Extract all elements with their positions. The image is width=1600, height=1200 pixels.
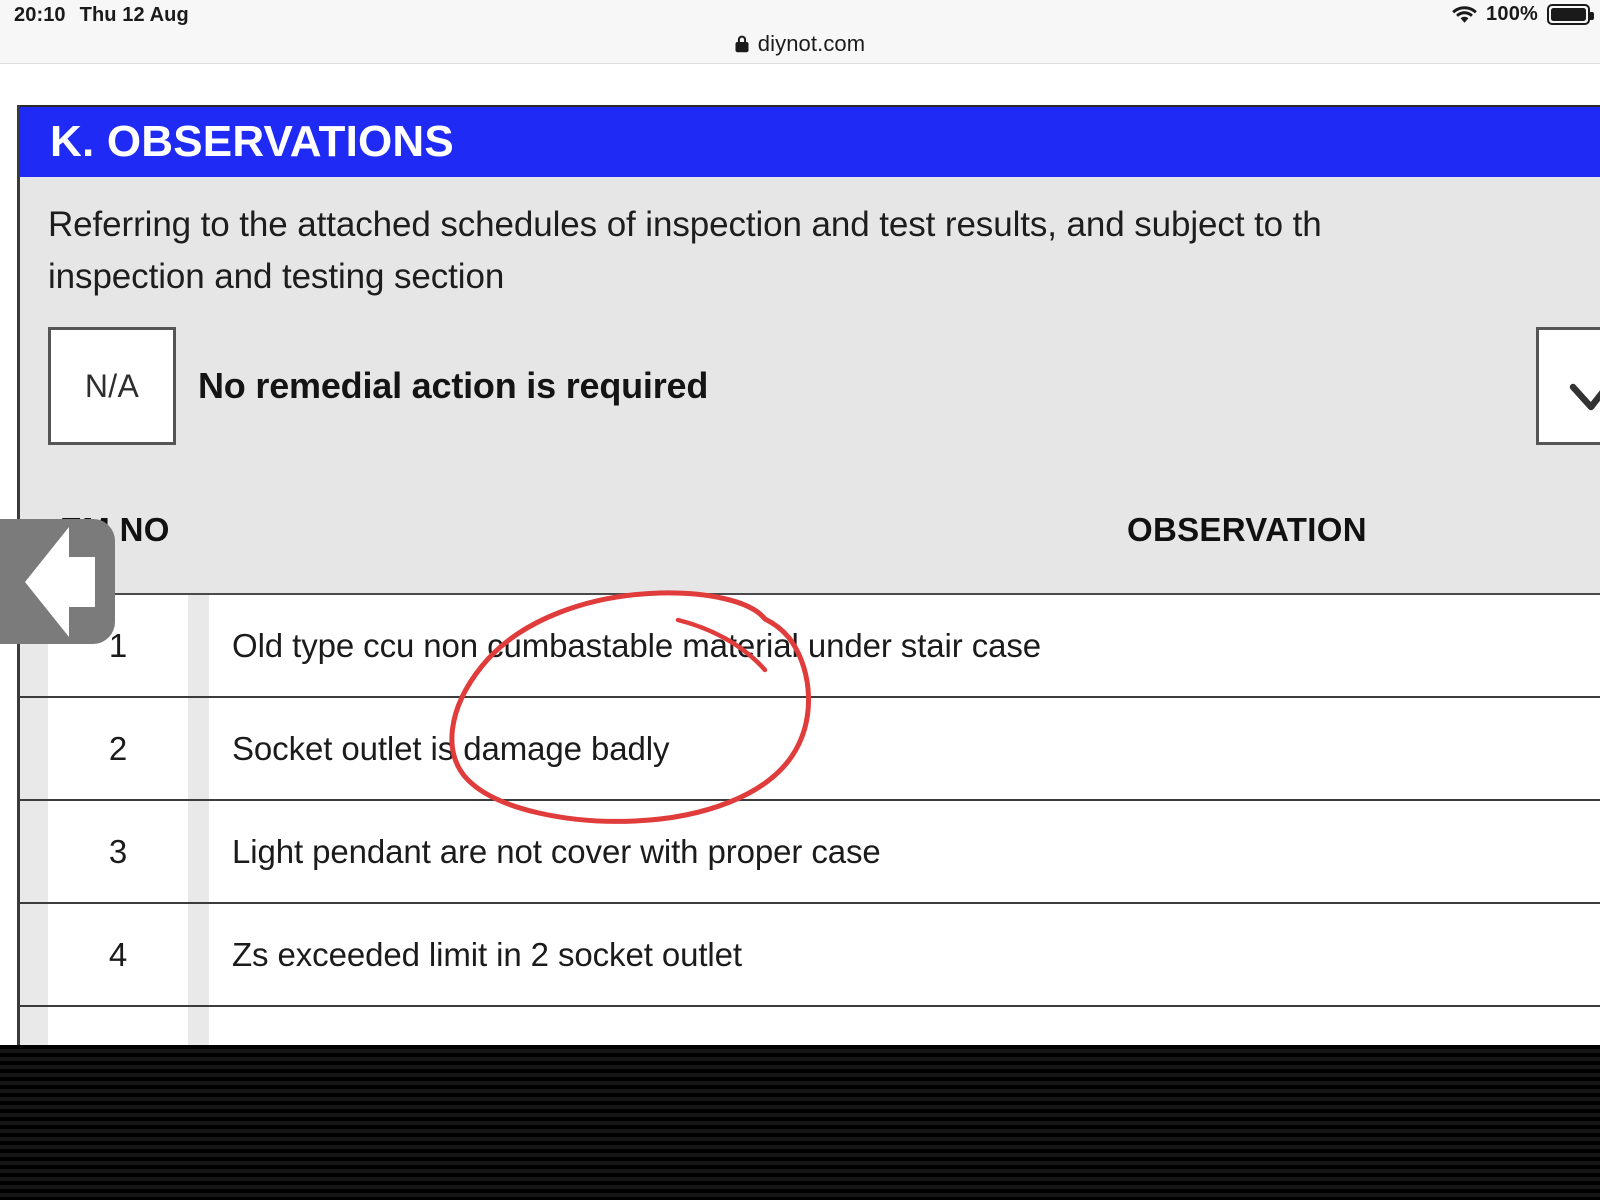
table-row[interactable]: 4 Zs exceeded limit in 2 socket outlet — [20, 904, 1600, 1007]
intro-text: Referring to the attached schedules of i… — [20, 199, 1600, 303]
cell-item-no: 4 — [48, 936, 188, 974]
checkbox-na-label: N/A — [85, 368, 139, 405]
cell-observation: Old type ccu non cumbastable material un… — [232, 627, 1041, 665]
status-bar-right: 100% — [1452, 3, 1590, 26]
section-header: K. OBSERVATIONS — [20, 105, 1600, 177]
battery-full-icon — [1547, 4, 1590, 25]
cell-item-no: 3 — [48, 833, 188, 871]
table-row[interactable]: 1 Old type ccu non cumbastable material … — [20, 595, 1600, 698]
screen: 20:10 Thu 12 Aug 100% diynot.com — [0, 0, 1600, 1200]
cell-observation: Light pendant are not cover with proper … — [232, 833, 881, 871]
status-bar: 20:10 Thu 12 Aug 100% — [0, 0, 1600, 32]
eicr-document: K. OBSERVATIONS Referring to the attache… — [17, 105, 1600, 1045]
back-arrow-icon — [21, 521, 103, 643]
page-title: K. OBSERVATIONS — [50, 117, 454, 167]
lock-icon — [735, 35, 749, 53]
page-content: K. OBSERVATIONS Referring to the attache… — [0, 64, 1600, 1045]
url-bar-divider — [0, 63, 1600, 64]
battery-percent: 100% — [1486, 3, 1538, 26]
table-row[interactable]: 3 Light pendant are not cover with prope… — [20, 801, 1600, 904]
choice-no-remedial-action[interactable]: N/A No remedial action is required — [48, 327, 708, 445]
status-date: Thu 12 Aug — [80, 4, 189, 27]
table-row[interactable]: 2 Socket outlet is damage badly — [20, 698, 1600, 801]
remedial-choice-row: N/A No remedial action is required — [20, 303, 1600, 477]
back-gesture-overlay[interactable] — [0, 519, 115, 644]
cell-observation: Zs exceeded limit in 2 socket outlet — [232, 936, 742, 974]
choice-label-no-remedial-action: No remedial action is required — [198, 365, 708, 407]
wifi-icon — [1452, 5, 1477, 24]
checkbox-na[interactable]: N/A — [48, 327, 176, 445]
column-header-observation: OBSERVATION — [1127, 511, 1367, 549]
battery-fill — [1551, 8, 1586, 21]
checkbox-observations[interactable] — [1536, 327, 1600, 445]
cell-observation: Socket outlet is damage badly — [232, 730, 669, 768]
url-text: diynot.com — [758, 31, 865, 57]
observations-table-body: 1 Old type ccu non cumbastable material … — [20, 595, 1600, 1045]
intro-block: Referring to the attached schedules of i… — [20, 177, 1600, 477]
status-time: 20:10 — [14, 4, 66, 27]
cell-item-no: 2 — [48, 730, 188, 768]
table-row[interactable] — [20, 1007, 1600, 1045]
observations-table-header: EM NO OBSERVATION — [20, 477, 1600, 595]
status-bar-left: 20:10 Thu 12 Aug — [14, 4, 189, 27]
choice-following-observations[interactable]: The following observa — [1536, 327, 1600, 445]
screen-letterbox — [0, 1045, 1600, 1200]
check-icon — [1569, 357, 1600, 415]
